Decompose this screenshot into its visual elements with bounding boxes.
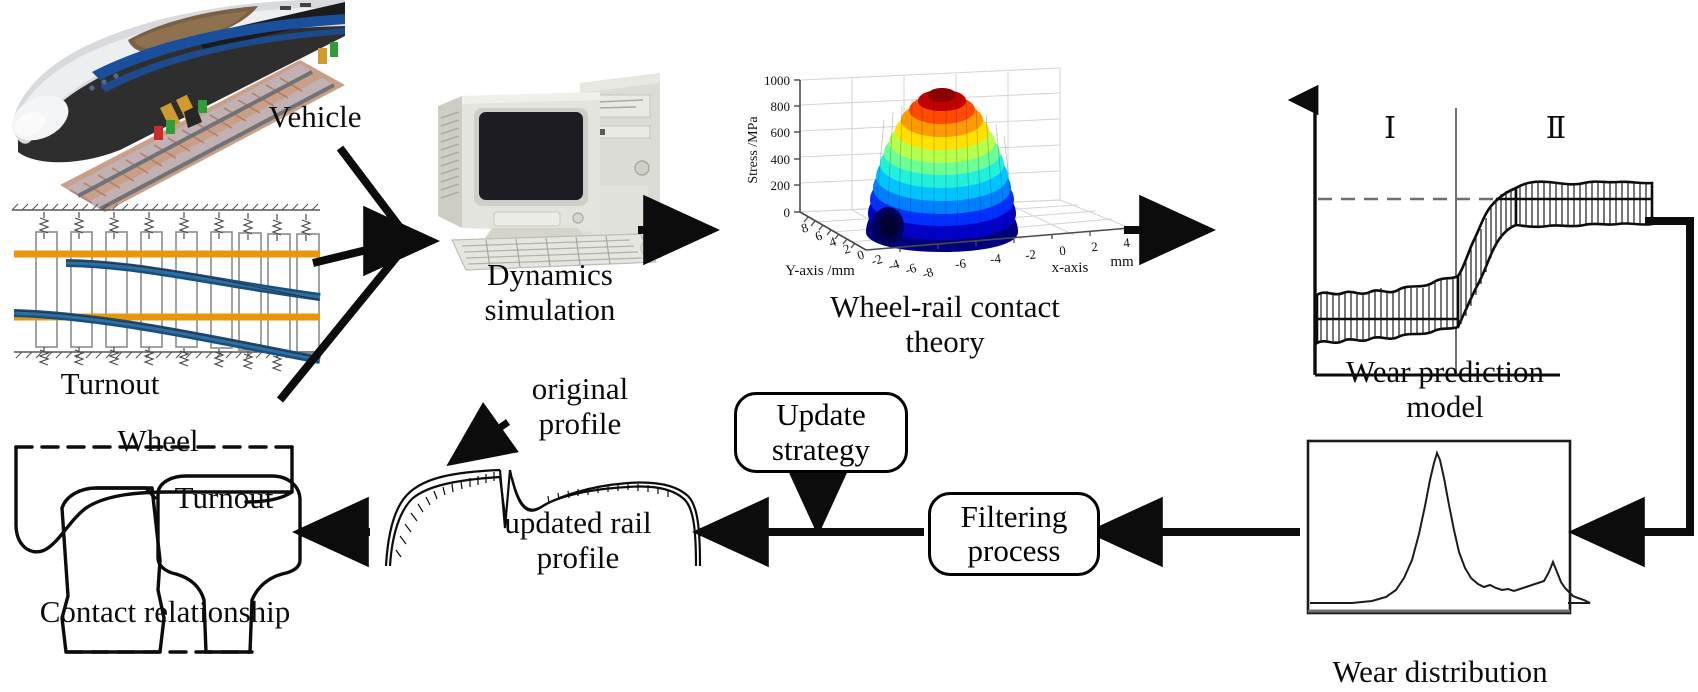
- label-updated-rail-profile: updated rail profile: [480, 506, 676, 575]
- label-contact-relationship: Contact relationship: [0, 595, 330, 630]
- arrow-vehicle-to-merge: [340, 148, 408, 238]
- label-contact-wheel: Wheel: [78, 424, 238, 459]
- label-dynamics-simulation: Dynamics simulation: [440, 258, 660, 327]
- update-strategy-box[interactable]: Update strategy: [734, 392, 908, 473]
- label-wear-distribution: Wear distribution: [1290, 655, 1590, 690]
- label-wear-prediction-model: Wear prediction model: [1300, 355, 1590, 424]
- label-wheel-rail-contact-theory: Wheel-rail contact theory: [800, 290, 1090, 359]
- label-vehicle: Vehicle: [250, 100, 380, 135]
- arrow-contact-to-merge: [280, 243, 408, 400]
- label-turnout: Turnout: [30, 367, 190, 402]
- arrow-wear-model-to-wear-distribution: [1576, 221, 1690, 532]
- label-original-profile: original profile: [492, 372, 668, 441]
- label-contact-turnout: Turnout: [144, 481, 304, 516]
- flowchart-canvas: 1000 800 600 400 200 0 Stress /MPa 8 6 4…: [0, 0, 1698, 692]
- filtering-process-box[interactable]: Filtering process: [928, 492, 1100, 576]
